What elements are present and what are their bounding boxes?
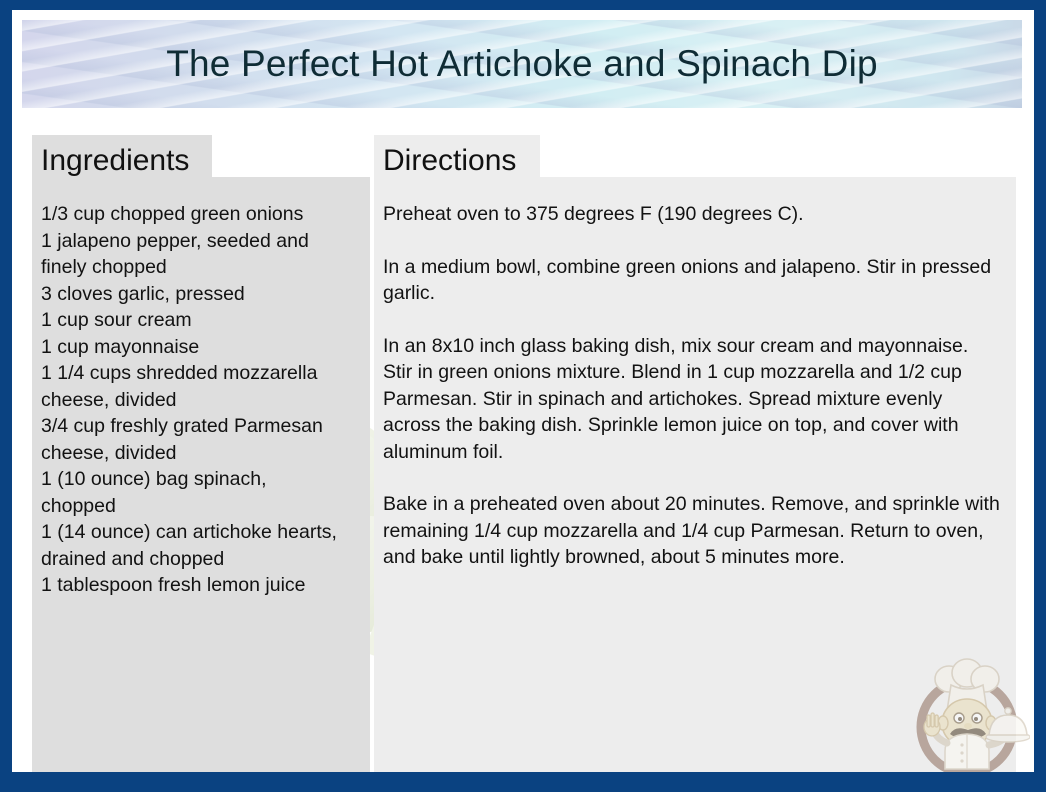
section-tab-directions: Directions xyxy=(374,135,540,179)
section-tab-ingredients: Ingredients xyxy=(32,135,212,179)
direction-step: Bake in a preheated oven about 20 minute… xyxy=(383,491,1000,571)
ingredient-line: finely chopped xyxy=(41,254,358,281)
card-inner-frame: The Perfect Hot Artichoke and Spinach Di… xyxy=(12,10,1034,772)
ingredient-line: 1 (10 ounce) bag spinach, xyxy=(41,466,358,493)
ingredient-line: cheese, divided xyxy=(41,440,358,467)
ingredient-line: cheese, divided xyxy=(41,387,358,414)
ingredient-line: 3 cloves garlic, pressed xyxy=(41,281,358,308)
direction-step: In an 8x10 inch glass baking dish, mix s… xyxy=(383,333,1000,466)
direction-step: Preheat oven to 375 degrees F (190 degre… xyxy=(383,201,1000,228)
ingredient-line: 3/4 cup freshly grated Parmesan xyxy=(41,413,358,440)
directions-steps: Preheat oven to 375 degrees F (190 degre… xyxy=(383,201,1000,571)
ingredients-heading: Ingredients xyxy=(41,145,189,180)
recipe-card-page: The Perfect Hot Artichoke and Spinach Di… xyxy=(0,0,1046,792)
directions-heading: Directions xyxy=(383,145,516,180)
ingredient-line: 1/3 cup chopped green onions xyxy=(41,201,358,228)
ingredient-line: 1 jalapeno pepper, seeded and xyxy=(41,228,358,255)
ingredient-line: drained and chopped xyxy=(41,546,358,573)
ingredient-line: 1 (14 ounce) can artichoke hearts, xyxy=(41,519,358,546)
directions-panel: Preheat oven to 375 degrees F (190 degre… xyxy=(374,177,1016,772)
ingredient-line: 1 cup sour cream xyxy=(41,307,358,334)
ingredient-line: 1 1/4 cups shredded mozzarella xyxy=(41,360,358,387)
direction-step: In a medium bowl, combine green onions a… xyxy=(383,254,1000,307)
ingredient-line: 1 cup mayonnaise xyxy=(41,334,358,361)
ingredient-line: chopped xyxy=(41,493,358,520)
ingredients-list: 1/3 cup chopped green onions 1 jalapeno … xyxy=(41,201,358,599)
ingredient-line: 1 tablespoon fresh lemon juice xyxy=(41,572,358,599)
title-banner: The Perfect Hot Artichoke and Spinach Di… xyxy=(22,20,1022,108)
page-title: The Perfect Hot Artichoke and Spinach Di… xyxy=(166,43,878,85)
ingredients-panel: 1/3 cup chopped green onions 1 jalapeno … xyxy=(32,177,370,772)
